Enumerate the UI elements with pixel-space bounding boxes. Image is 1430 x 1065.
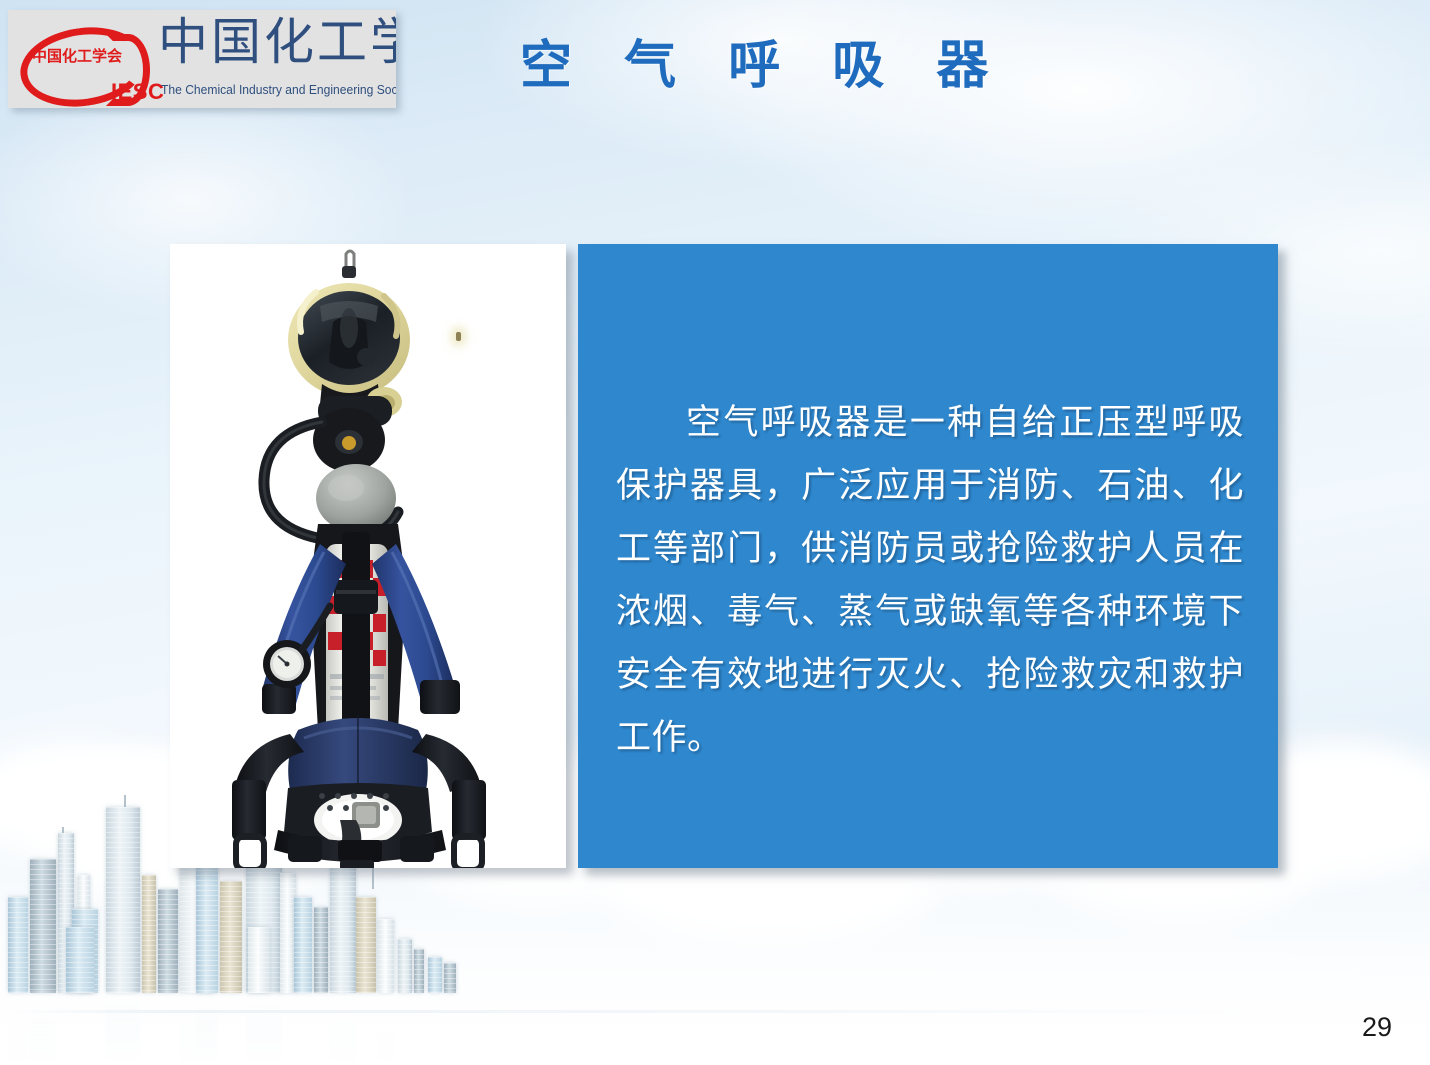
city-reflection [0,993,520,1065]
reflection-fade [0,991,1430,1065]
description-text: 空气呼吸器是一种自给正压型呼吸保护器具，广泛应用于消防、石油、化工等部门，供消防… [616,392,1244,770]
page-title: 空 气 呼 吸 器 [520,36,1005,96]
seal-inner-text: 中国化工学会 [32,49,122,64]
logo-name-en: The Chemical Industry and Engineering So… [161,82,396,97]
scba-apparatus-image [170,244,566,868]
page-number: 29 [1362,1012,1392,1043]
slide-canvas: 中国化工学会 IESC 中国化工学会 The Chemical Industry… [0,0,1430,1065]
product-photo-panel [170,244,566,868]
photo-artifact-speck [456,332,461,341]
description-panel: 空气呼吸器是一种自给正压型呼吸保护器具，广泛应用于消防、石油、化工等部门，供消防… [578,244,1278,868]
logo-acronym: IESC [111,79,164,105]
society-logo: 中国化工学会 IESC 中国化工学会 The Chemical Industry… [8,10,396,108]
horizon-line [0,1010,1430,1013]
logo-name-cn: 中国化工学会 [158,16,396,69]
